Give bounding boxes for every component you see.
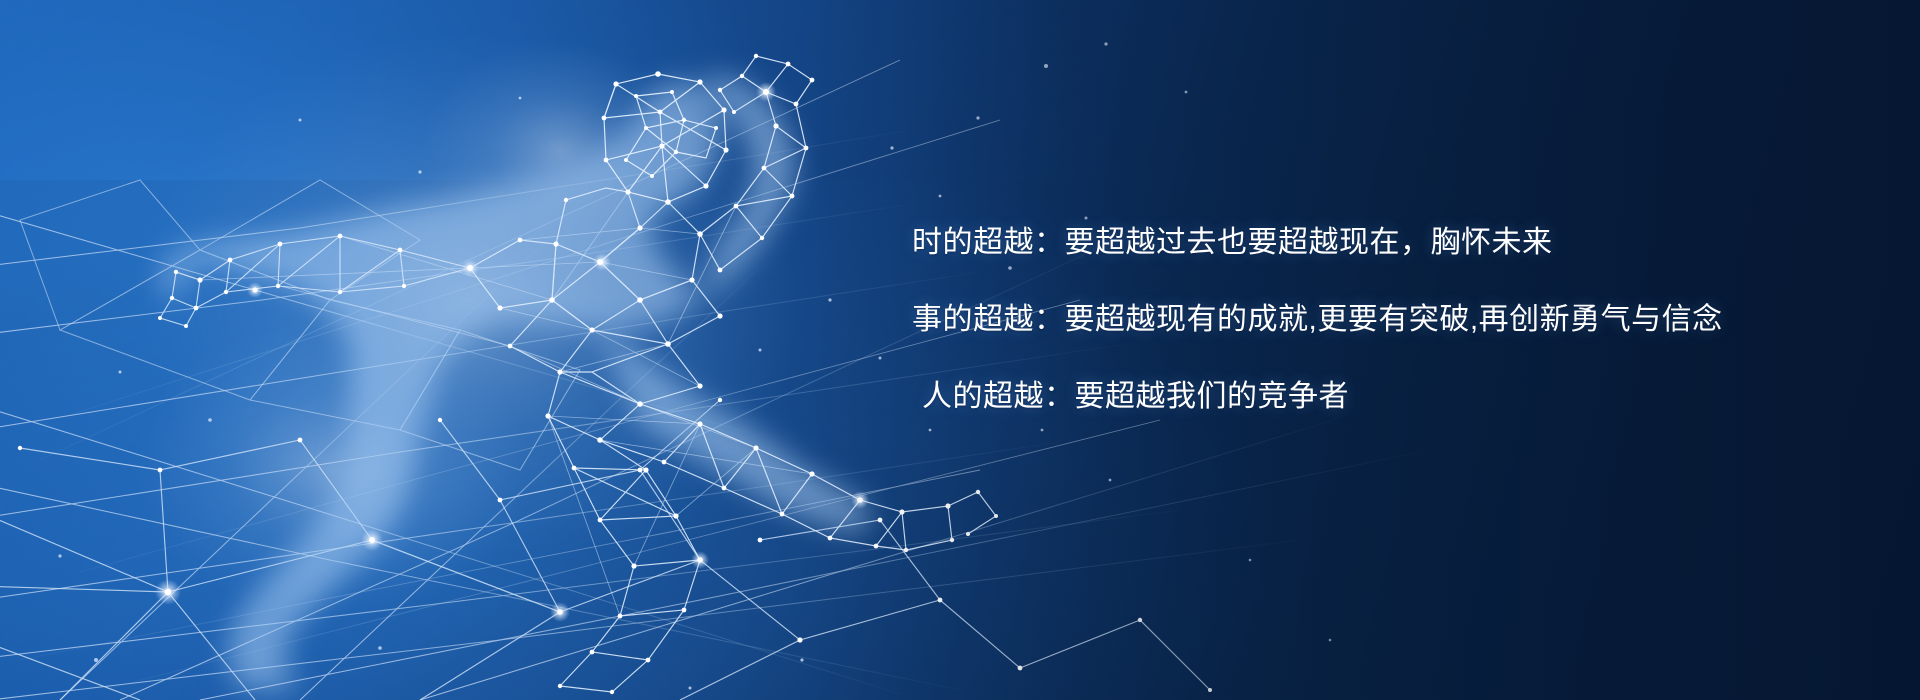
hero-banner: 时的超越：要超越过去也要超越现在，胸怀未来 事的超越：要超越现有的成就,更要有突… [0,0,1920,700]
tagline-block: 时的超越：要超越过去也要超越现在，胸怀未来 事的超越：要超越现有的成就,更要有突… [912,228,1812,412]
tagline-people: 人的超越：要超越我们的竞争者 [912,382,1812,412]
tagline-time: 时的超越：要超越过去也要超越现在，胸怀未来 [912,228,1812,258]
tagline-matter: 事的超越：要超越现有的成就,更要有突破,再创新勇气与信念 [912,305,1812,335]
